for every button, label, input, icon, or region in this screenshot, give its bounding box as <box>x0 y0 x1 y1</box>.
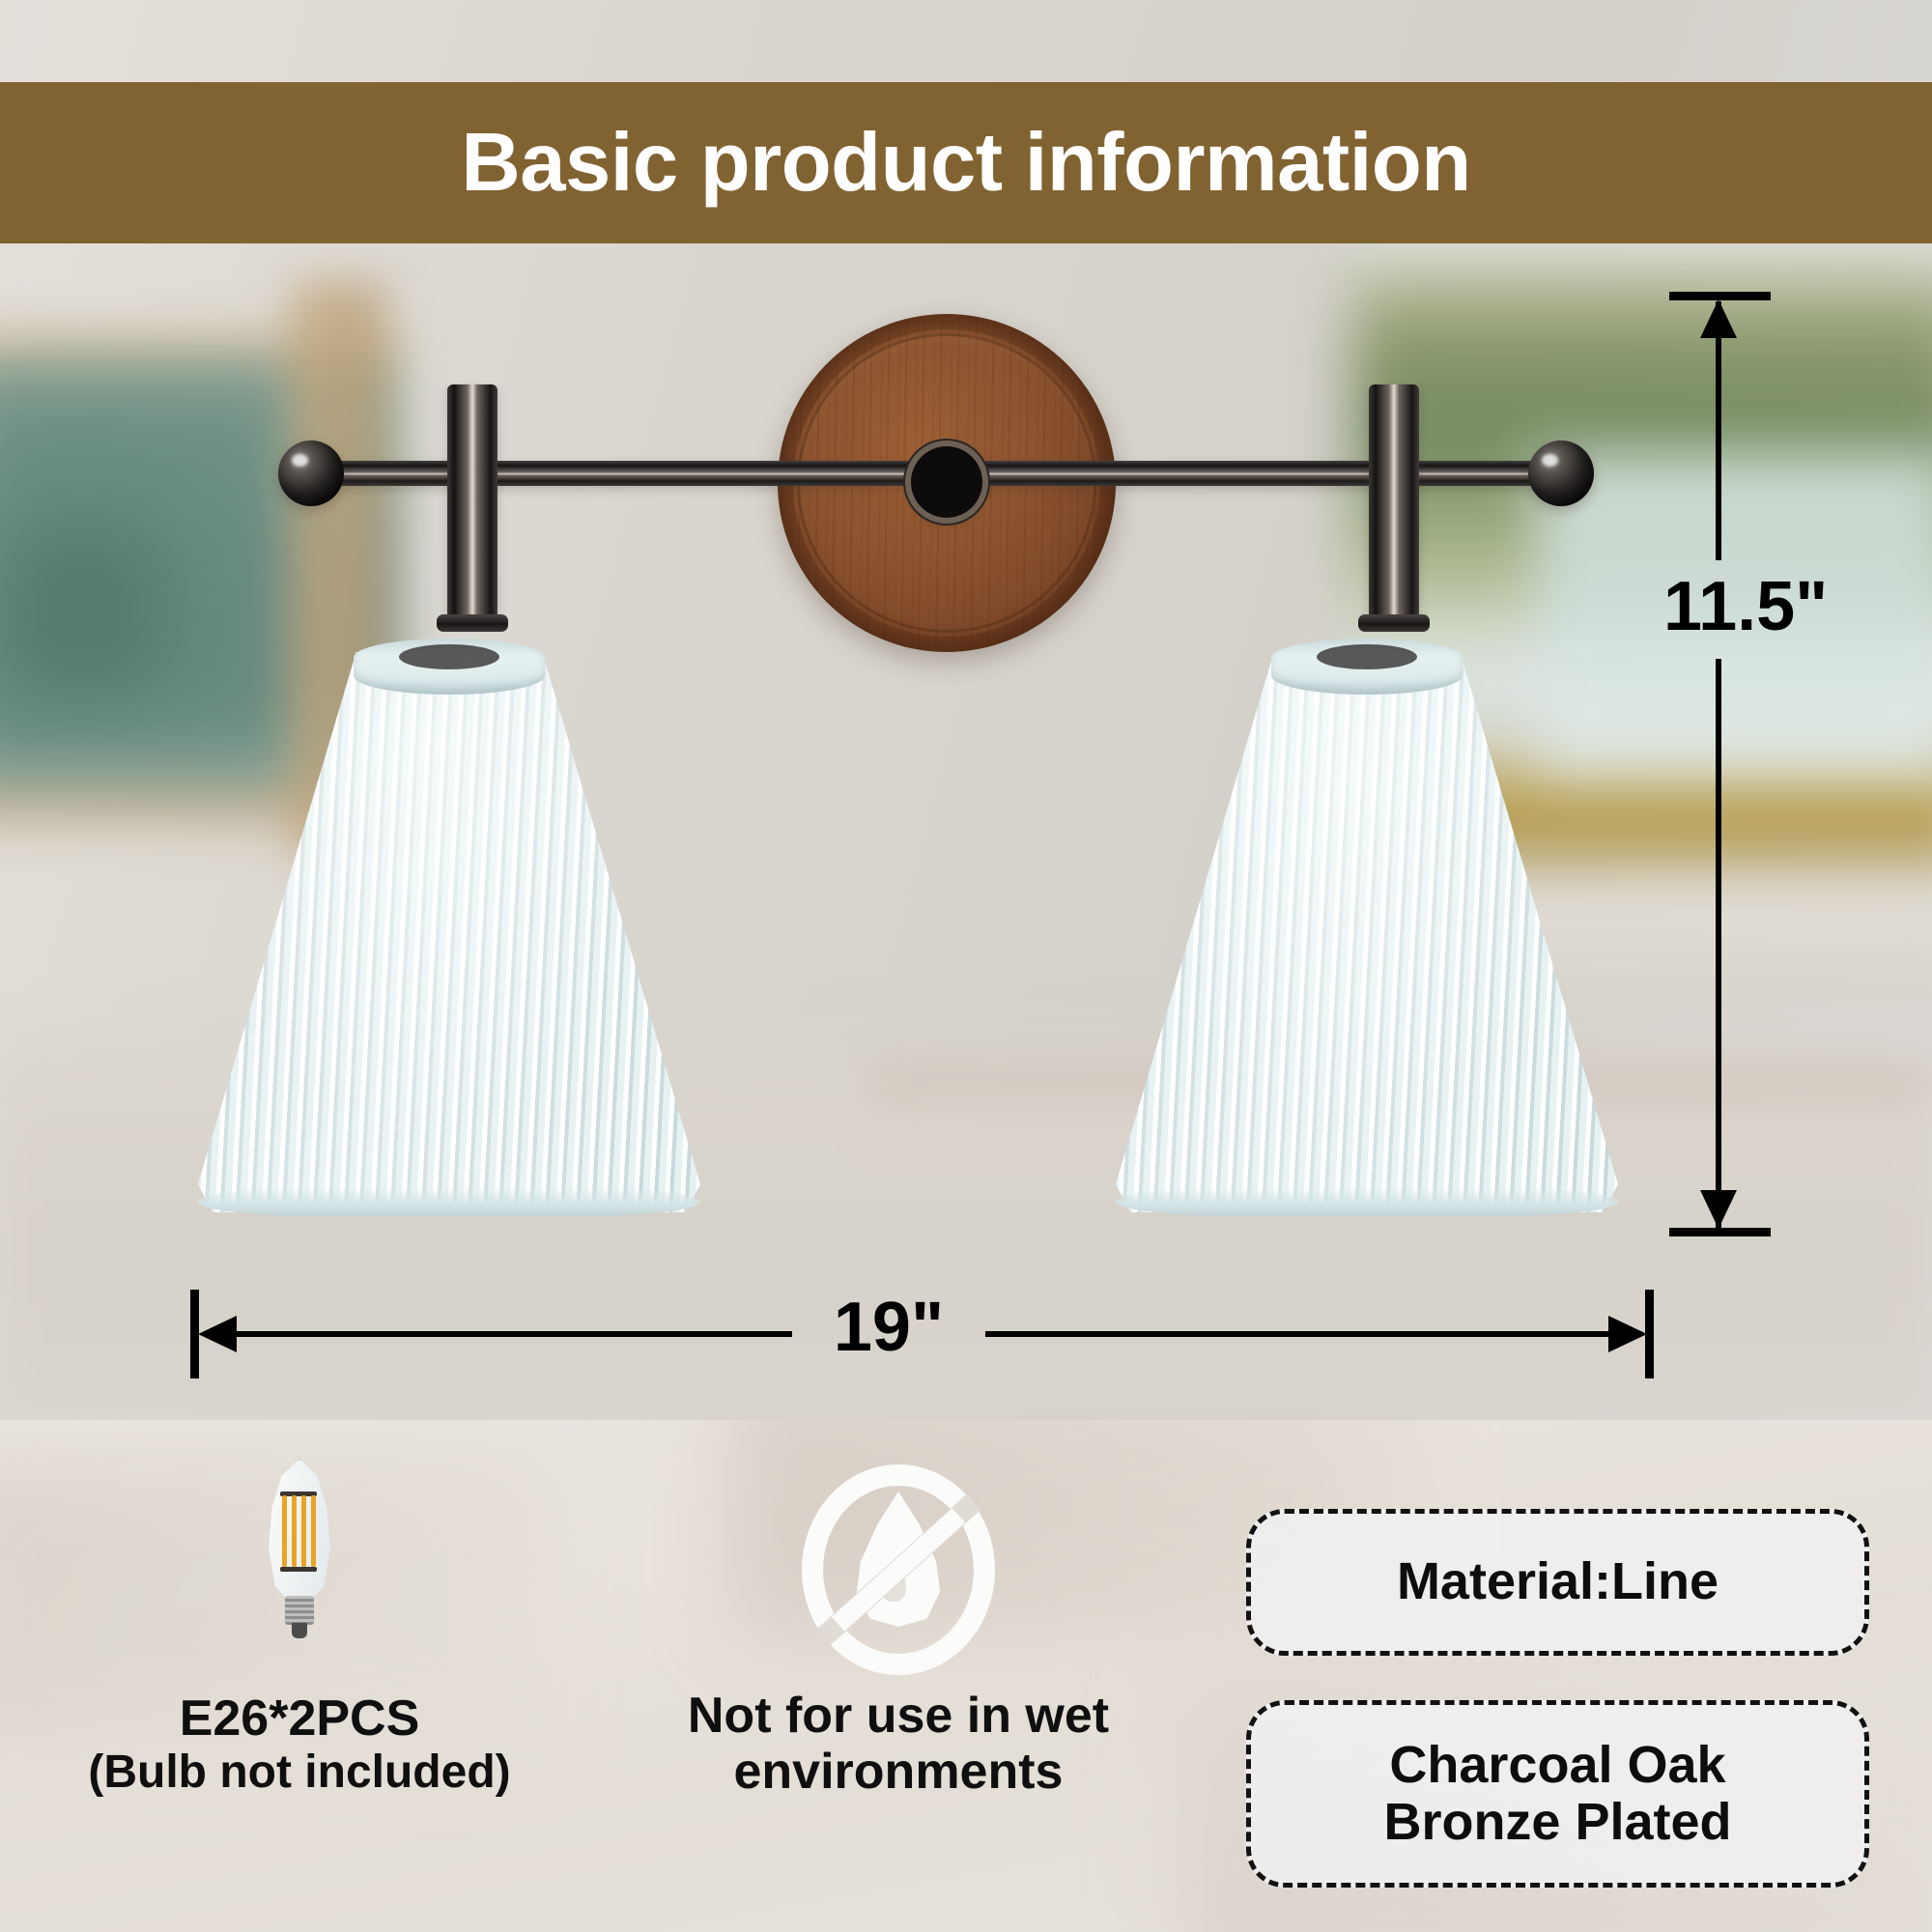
wet-warning-label: Not for use in wet environments <box>599 1688 1198 1800</box>
specifications-panel: E26*2PCS (Bulb not included) Not for use… <box>0 1420 1932 1932</box>
page-title-banner: Basic product information <box>0 82 1932 243</box>
material-spec-box: Material:Line <box>1246 1509 1869 1656</box>
candelabra-filament-bulb-icon <box>259 1459 340 1638</box>
page-title: Basic product information <box>461 122 1470 204</box>
height-arrow-up-icon <box>1700 299 1737 338</box>
bulb-included-note: (Bulb not included) <box>29 1747 570 1799</box>
bulb-filament-4 <box>311 1495 316 1567</box>
no-water-icon-wrap <box>599 1461 1198 1688</box>
material-spec-label: Material:Line <box>1397 1553 1719 1610</box>
bulb-filament-bottom-bar <box>280 1567 317 1572</box>
bulb-spec-column: E26*2PCS (Bulb not included) <box>29 1459 570 1799</box>
finish-spec-box: Charcoal Oak Bronze Plated <box>1246 1700 1869 1888</box>
product-info-graphic: 11.5" 19" Basic product information <box>0 0 1932 1932</box>
finish-spec-label: Charcoal Oak Bronze Plated <box>1383 1737 1731 1852</box>
height-line-lower <box>1716 659 1721 1229</box>
bulb-spec-label: E26*2PCS <box>29 1690 570 1747</box>
height-line-upper <box>1716 301 1721 560</box>
height-tick-bottom <box>1669 1228 1771 1236</box>
width-line-right <box>985 1331 1623 1337</box>
height-dimension-label: 11.5" <box>1663 572 1886 641</box>
height-arrow-down-icon <box>1700 1190 1737 1229</box>
bulb-filament-2 <box>292 1495 297 1567</box>
bulb-filament-3 <box>301 1495 306 1567</box>
bulb-base-tip <box>292 1623 307 1638</box>
bulb-filament-1 <box>282 1495 287 1567</box>
bulb-icon-wrap <box>29 1459 570 1690</box>
wet-warning-column: Not for use in wet environments <box>599 1461 1198 1800</box>
bulb-glass <box>259 1459 340 1604</box>
width-line-left <box>222 1331 792 1337</box>
bulb-screw-base <box>285 1596 314 1625</box>
width-dimension-label: 19" <box>792 1293 985 1362</box>
width-arrow-left-icon <box>198 1316 237 1352</box>
no-water-droplet-icon <box>802 1464 995 1675</box>
spec-box-column: Material:Line Charcoal Oak Bronze Plated <box>1246 1509 1869 1888</box>
width-arrow-right-icon <box>1608 1316 1647 1352</box>
